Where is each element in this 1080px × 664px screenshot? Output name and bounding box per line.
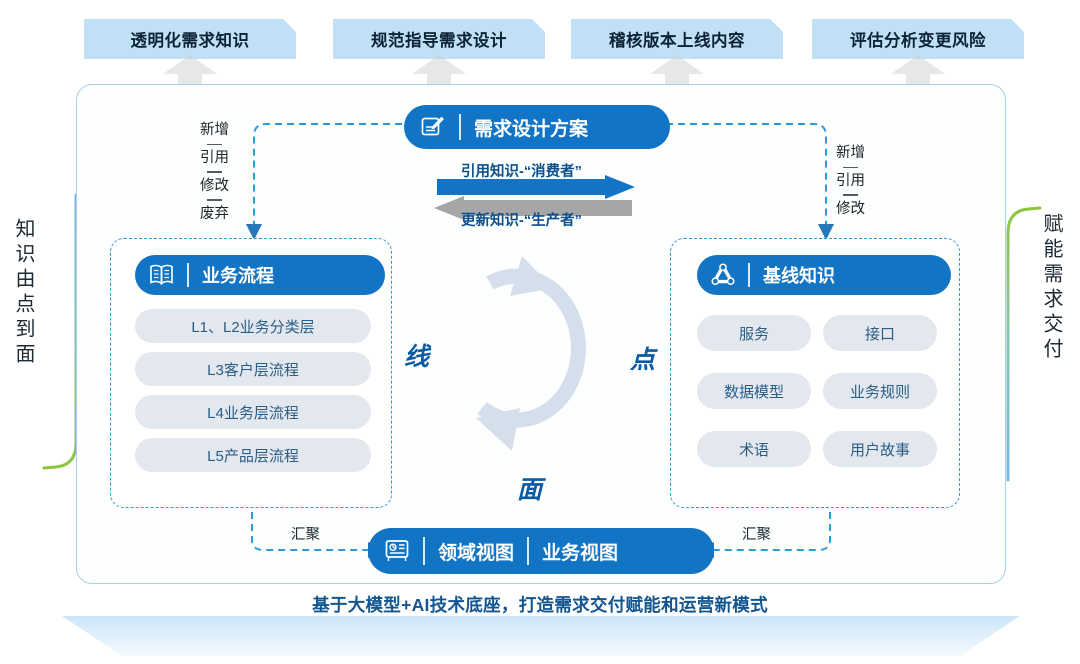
requirement-design-label: 需求设计方案 [474,114,588,141]
item-label: 术语 [739,439,769,460]
top-banner-label: 透明化需求知识 [131,27,250,51]
stack-separator [843,167,858,168]
pill-divider [459,114,461,140]
recycle-nodes-icon [711,263,735,287]
connector-left-dashed [240,118,430,248]
top-banner-0: 透明化需求知识 [84,19,296,59]
left-action-stack: 新增 引用 修改 废弃 [200,122,229,222]
stack-separator [207,144,222,145]
pill-divider [187,263,189,287]
item-label: 数据模型 [724,381,784,402]
business-process-item-1[interactable]: L3客户层流程 [135,352,371,386]
baseline-knowledge-item-5[interactable]: 用户故事 [823,431,937,467]
side-label-left: 知识由点到面 [12,218,33,368]
stack-separator [843,194,858,195]
cycle-label-line: 线 [404,337,429,373]
cycle-label-plane: 面 [517,470,542,506]
bottom-caption: 基于大模型+AI技术底座，打造需求交付赋能和运营新模式 [0,592,1080,617]
top-banner-3: 评估分析变更风险 [812,19,1024,59]
top-banner-label: 评估分析变更风险 [850,27,986,51]
item-label: 服务 [739,323,769,344]
right-action-stack: 新增 引用 修改 [836,145,865,217]
left-action-2: 修改 [200,178,229,195]
baseline-knowledge-item-1[interactable]: 接口 [823,315,937,351]
bottom-trapezoid [62,616,1020,658]
left-action-1: 引用 [200,150,229,167]
item-label: 接口 [865,323,895,344]
view-pill-label-0: 领域视图 [438,538,514,565]
baseline-knowledge-group: 基线知识 服务 接口 数据模型 业务规则 术语 用户故事 [670,238,960,508]
open-book-icon [149,264,174,286]
top-banner-2: 稽核版本上线内容 [571,19,783,59]
business-process-item-2[interactable]: L4业务层流程 [135,395,371,429]
item-label: L4业务层流程 [207,402,299,423]
consume-flow-label: 引用知识-“消费者” [461,160,582,181]
top-banner-label: 稽核版本上线内容 [609,27,745,51]
item-label: L1、L2业务分类层 [191,316,314,337]
top-banner-1: 规范指导需求设计 [333,19,545,59]
business-process-item-0[interactable]: L1、L2业务分类层 [135,309,371,343]
baseline-knowledge-item-0[interactable]: 服务 [697,315,811,351]
side-label-right: 赋能需求交付 [1040,213,1061,363]
pill-divider [423,537,425,565]
left-action-3: 废弃 [200,206,229,223]
item-label: L5产品层流程 [207,445,299,466]
stack-separator [207,171,222,172]
cycle-arrow-graphic [440,248,626,473]
baseline-knowledge-header[interactable]: 基线知识 [697,255,951,295]
caption-strong: 大模型 [348,595,401,615]
caption-prefix: 基于 [312,595,348,615]
pill-divider [527,537,529,565]
produce-flow-label: 更新知识-“生产者” [461,209,582,230]
right-gradient-rail [1000,195,1042,480]
view-pill[interactable]: 领域视图 业务视图 [368,528,714,574]
cycle-label-point: 点 [630,340,655,376]
right-action-2: 修改 [836,201,865,218]
business-process-header[interactable]: 业务流程 [135,255,385,295]
converge-label-left: 汇聚 [291,523,320,544]
stack-separator [207,199,222,200]
caption-suffix: +AI技术底座，打造需求交付赋能和运营新模式 [401,595,768,615]
baseline-knowledge-item-2[interactable]: 数据模型 [697,373,811,409]
requirement-design-pill[interactable]: 需求设计方案 [404,105,670,149]
document-edit-icon [420,114,446,140]
top-banner-label: 规范指导需求设计 [371,27,507,51]
right-action-0: 新增 [836,145,865,162]
business-process-group: 业务流程 L1、L2业务分类层 L3客户层流程 L4业务层流程 L5产品层流程 [110,238,392,508]
pill-divider [748,263,750,287]
item-label: L3客户层流程 [207,359,299,380]
business-process-item-3[interactable]: L5产品层流程 [135,438,371,472]
converge-label-right: 汇聚 [742,523,771,544]
view-pill-label-1: 业务视图 [542,538,618,565]
connector-right-dashed [650,118,840,248]
item-label: 业务规则 [850,381,910,402]
left-action-0: 新增 [200,122,229,139]
baseline-knowledge-item-4[interactable]: 术语 [697,431,811,467]
business-process-label: 业务流程 [202,262,274,288]
diagram-canvas: 透明化需求知识 规范指导需求设计 稽核版本上线内容 评估分析变更风险 [0,0,1080,664]
item-label: 用户故事 [850,439,910,460]
right-action-1: 引用 [836,173,865,190]
baseline-knowledge-label: 基线知识 [763,262,835,288]
baseline-knowledge-item-3[interactable]: 业务规则 [823,373,937,409]
presentation-board-icon [384,538,410,564]
